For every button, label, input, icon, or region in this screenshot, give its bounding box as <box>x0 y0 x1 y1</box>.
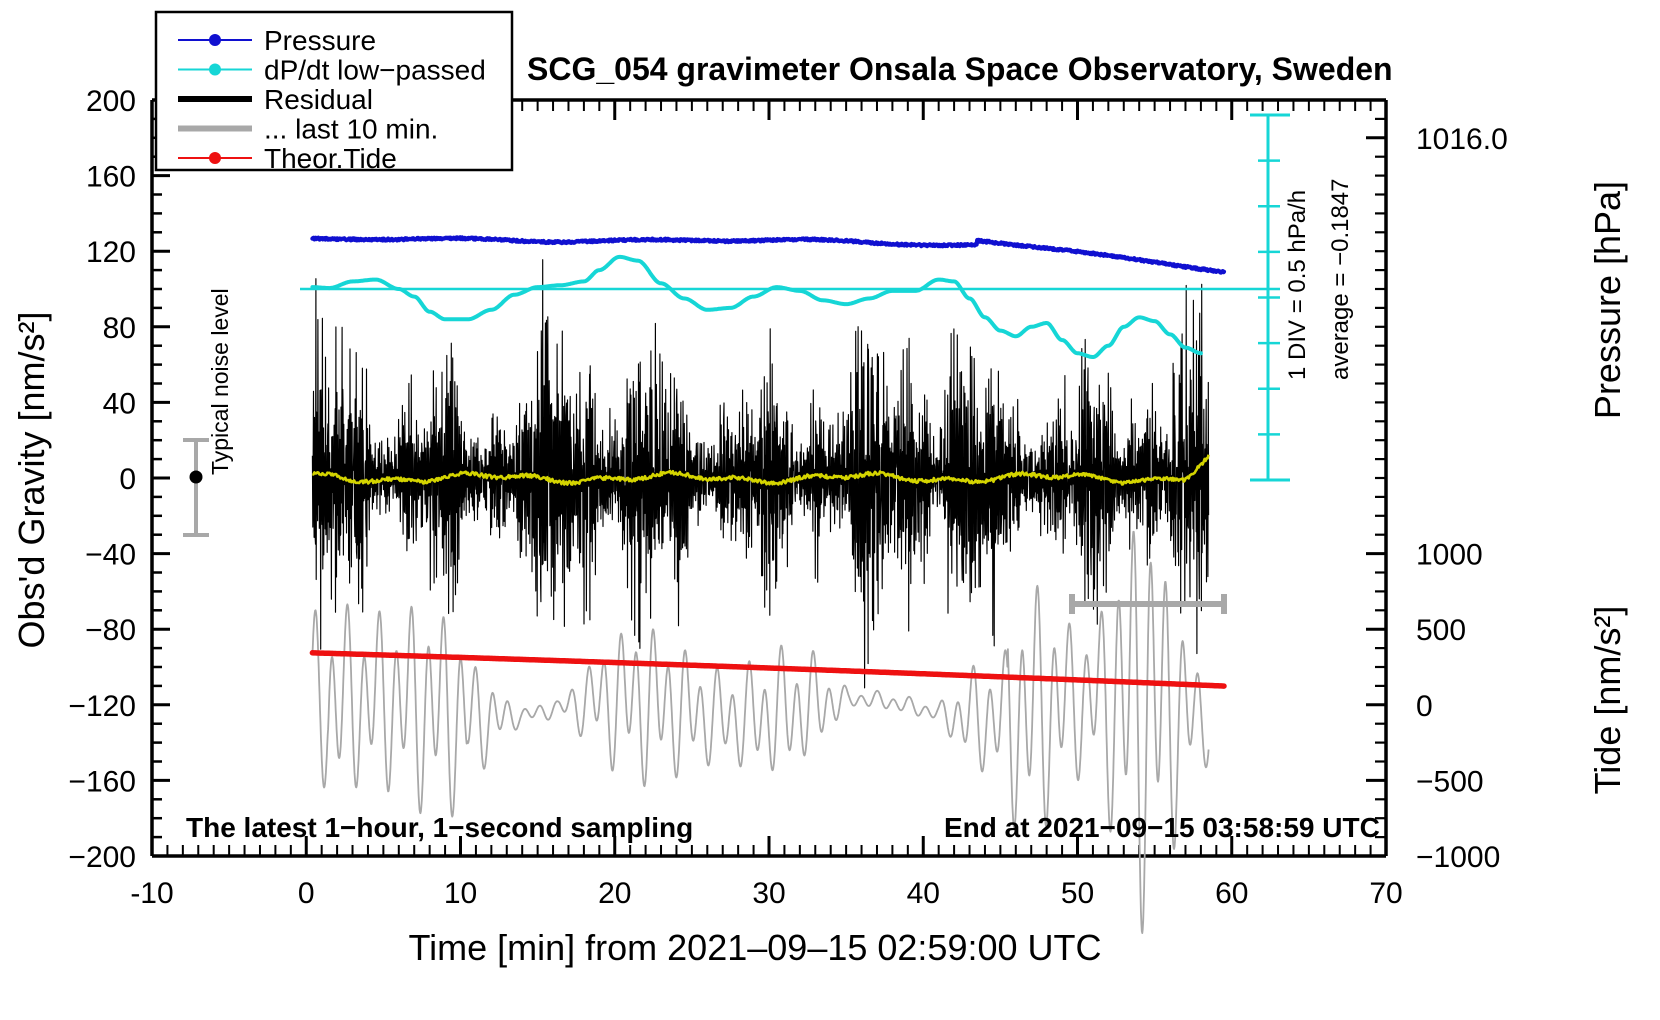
legend-swatch-dot <box>209 152 221 164</box>
tide-tick-label: −1000 <box>1416 841 1500 874</box>
x-tick-label: 30 <box>752 877 785 910</box>
y-axis-title: Obs'd Gravity [nm/s²] <box>11 312 52 649</box>
legend-box: PressuredP/dt low−passedResidual... last… <box>156 12 512 174</box>
sampling-note: The latest 1−hour, 1−second sampling <box>186 812 693 843</box>
tide-tick-label: 500 <box>1416 614 1466 647</box>
x-tick-label: -10 <box>130 877 173 910</box>
legend-item-label: dP/dt low−passed <box>264 55 486 86</box>
gravimeter-plot-figure: 20016012080400−40−80−120−160−200 -100102… <box>0 0 1660 1020</box>
y-tick-label: −120 <box>68 690 136 723</box>
legend-swatch-dot <box>209 34 221 46</box>
y-tick-label: −80 <box>85 614 136 647</box>
typical-noise-level-label: Typical noise level <box>207 288 233 475</box>
plot-svg: 20016012080400−40−80−120−160−200 -100102… <box>0 0 1660 1020</box>
tide-tick-label: −500 <box>1416 765 1484 798</box>
x-tick-label: 70 <box>1369 877 1402 910</box>
x-tick-label: 50 <box>1061 877 1094 910</box>
y-tick-label: 40 <box>103 387 136 420</box>
legend-item-label: Theor.Tide <box>264 143 397 174</box>
x-tick-label: 40 <box>907 877 940 910</box>
y-tick-label: −160 <box>68 765 136 798</box>
x-tick-label: 60 <box>1215 877 1248 910</box>
div-scale-label: 1 DIV = 0.5 hPa/h <box>1284 190 1311 380</box>
page-title: SCG_054 gravimeter Onsala Space Observat… <box>527 51 1393 87</box>
pressure-tick-label: 1016.0 <box>1416 123 1508 156</box>
legend-item-label: Pressure <box>264 25 376 56</box>
x-tick-label: 0 <box>298 877 315 910</box>
legend-swatch-dot <box>209 64 221 76</box>
legend-item-label: Residual <box>264 84 373 115</box>
tide-tick-label: 0 <box>1416 690 1433 723</box>
y-tick-label: 200 <box>86 85 136 118</box>
x-tick-label: 20 <box>598 877 631 910</box>
y-tick-label: 80 <box>103 312 136 345</box>
y-tick-label: −40 <box>85 539 136 572</box>
legend-item-label: ... last 10 min. <box>264 114 438 145</box>
pressure-axis-title: Pressure [hPa] <box>1587 181 1628 419</box>
y-tick-label: 160 <box>86 161 136 194</box>
y-tick-label: 0 <box>119 463 136 496</box>
dpdt-average-label: average = −0.1847 <box>1327 178 1354 380</box>
x-tick-label: 10 <box>444 877 477 910</box>
y-tick-label: −200 <box>68 841 136 874</box>
tide-tick-label: 1000 <box>1416 539 1483 572</box>
x-axis-title: Time [min] from 2021–09–15 02:59:00 UTC <box>408 927 1101 968</box>
y-tick-label: 120 <box>86 236 136 269</box>
end-time-note: End at 2021−09−15 03:58:59 UTC <box>944 812 1380 843</box>
tide-axis-title: Tide [nm/s²] <box>1587 606 1628 795</box>
